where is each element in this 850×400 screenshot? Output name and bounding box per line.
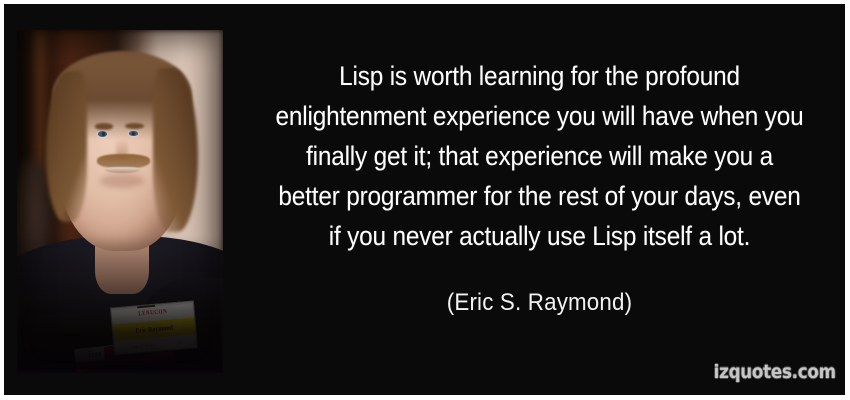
quote-text: Lisp is worth learning for the profound … [260, 56, 818, 256]
photo-bottom-shadow [17, 236, 223, 373]
site-watermark: izquotes.com [714, 361, 836, 383]
quote-canvas: free LYNUCON Eric Raymond Guest Of Honor… [4, 4, 845, 395]
author-photo-image: free LYNUCON Eric Raymond Guest Of Honor… [17, 30, 223, 373]
quote-line-4: better programmer for the rest of your d… [260, 176, 818, 216]
author-photo: free LYNUCON Eric Raymond Guest Of Honor… [17, 30, 223, 373]
quote-line-3: finally get it; that experience will mak… [260, 136, 818, 176]
subject-chin-shadow [100, 174, 143, 187]
quote-card: free LYNUCON Eric Raymond Guest Of Honor… [0, 0, 850, 400]
subject-mouth [105, 167, 139, 173]
subject-hair-left [46, 71, 87, 222]
quote-attribution: (Eric S. Raymond) [257, 287, 822, 319]
quote-line-2: enlightenment experience you will have w… [260, 96, 818, 136]
quote-line-5: if you never actually use Lisp itself a … [260, 216, 818, 256]
quote-line-1: Lisp is worth learning for the profound [260, 56, 818, 96]
quote-text-area: Lisp is worth learning for the profound … [236, 4, 843, 395]
